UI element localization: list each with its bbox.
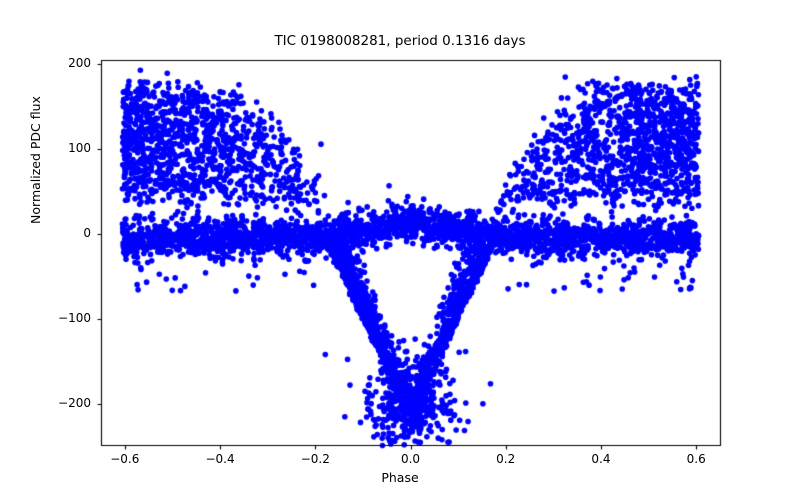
y-tick-label: 0 [43,226,91,240]
y-tick-label: −200 [43,396,91,410]
y-axis-label: Normalized PDC flux [28,10,43,310]
y-tick-label: 200 [43,56,91,70]
x-tick-label: 0.4 [571,452,631,466]
x-tick-label: −0.2 [285,452,345,466]
x-tick-label: 0.6 [666,452,726,466]
figure-canvas-container: TIC 0198008281, period 0.1316 days Phase… [0,0,800,500]
x-tick-label: 0.0 [381,452,441,466]
chart-title: TIC 0198008281, period 0.1316 days [0,33,800,49]
x-tick-label: 0.2 [476,452,536,466]
x-axis-label: Phase [0,470,800,485]
x-tick-label: −0.4 [190,452,250,466]
x-tick-label: −0.6 [95,452,155,466]
y-tick-label: 100 [43,141,91,155]
scatter-plot-canvas [0,0,800,500]
y-tick-label: −100 [43,311,91,325]
